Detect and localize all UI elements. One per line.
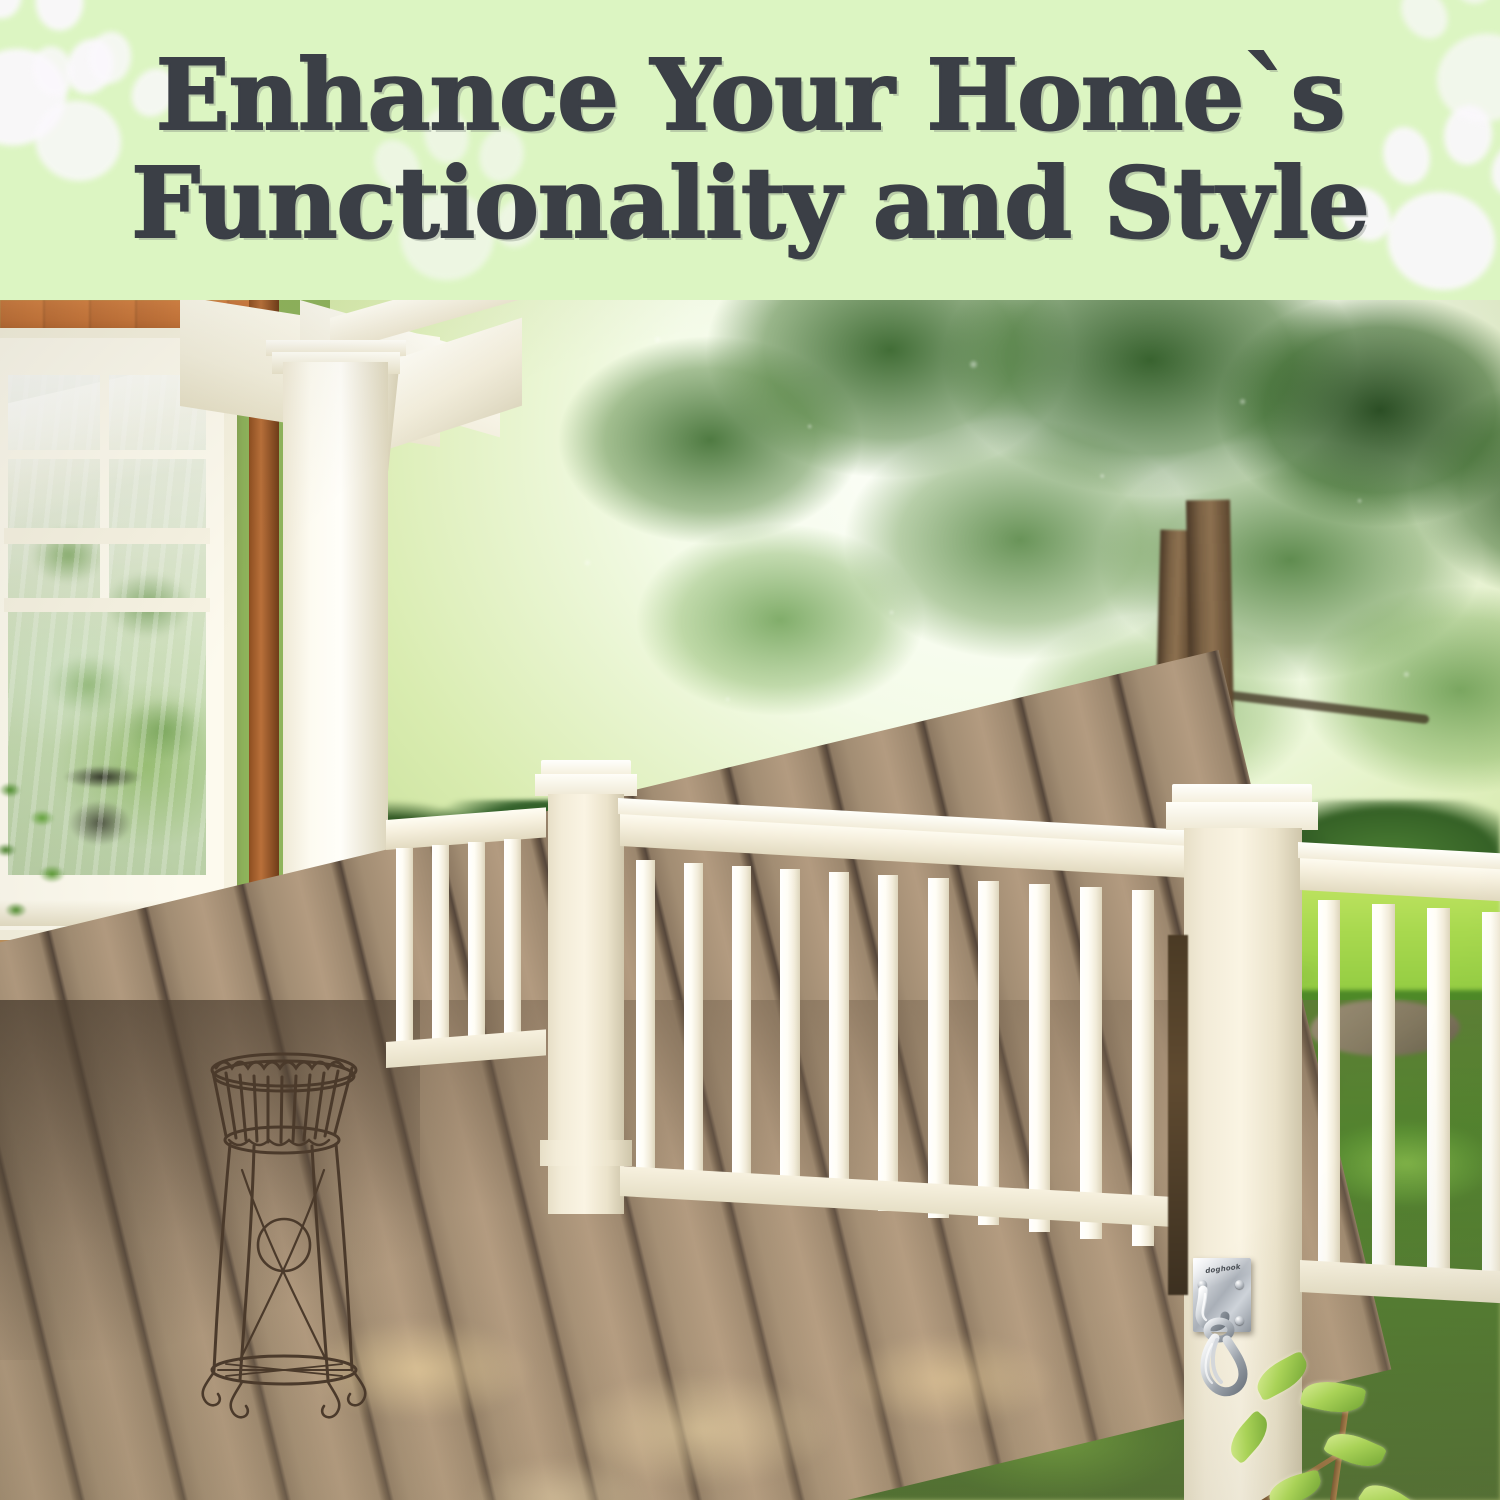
page-title: Enhance Your Home`s Functionality and St… <box>0 0 1500 300</box>
railing-baluster <box>978 881 999 1225</box>
railing-baluster <box>829 872 849 1204</box>
wire-plant-stand <box>196 1040 372 1420</box>
post-base-trim <box>540 1140 632 1166</box>
railing-baluster <box>928 878 949 1218</box>
window-sash-rail <box>4 598 210 612</box>
post-gap-shadow <box>1168 935 1188 1295</box>
railing-baluster <box>780 869 800 1197</box>
railing-baluster <box>1029 884 1050 1232</box>
railing-baluster <box>1318 900 1340 1270</box>
vine-leaf <box>1223 1410 1276 1465</box>
vine-leaf <box>1300 1376 1367 1418</box>
railing-baluster <box>432 845 449 1053</box>
railing-baluster <box>468 842 485 1053</box>
railing-baluster <box>732 866 751 1190</box>
vine-leaf <box>1265 1469 1324 1500</box>
railing-baluster <box>1132 890 1154 1246</box>
product-photo: doghook <box>0 300 1500 1500</box>
railing-baluster <box>878 875 898 1211</box>
foreground-vine <box>1210 1380 1500 1500</box>
railing-baluster <box>1372 904 1395 1278</box>
post-cap <box>535 774 637 796</box>
window-muntin <box>100 544 109 604</box>
railing-baluster <box>1482 912 1500 1294</box>
vine-leaf <box>1357 1475 1425 1500</box>
railing-baluster <box>684 863 703 1183</box>
window-muntin <box>8 450 206 459</box>
post-cap-top <box>1172 784 1312 804</box>
title-line-1: Enhance Your Home`s <box>156 44 1345 148</box>
railing-baluster <box>636 860 655 1176</box>
railing-baluster <box>504 839 521 1053</box>
post-cap <box>1166 802 1318 830</box>
header-banner: Enhance Your Home`s Functionality and St… <box>0 0 1500 300</box>
railing-baluster <box>396 848 413 1053</box>
title-line-2: Functionality and Style <box>131 152 1368 256</box>
railing-baluster <box>1080 887 1102 1239</box>
window-sash-rail <box>4 528 210 544</box>
railing-baluster <box>1427 908 1450 1286</box>
product-lifestyle-banner: Enhance Your Home`s Functionality and St… <box>0 0 1500 1500</box>
vine-leaf <box>1323 1425 1387 1474</box>
deck-sunlight-patch <box>300 1310 1060 1500</box>
